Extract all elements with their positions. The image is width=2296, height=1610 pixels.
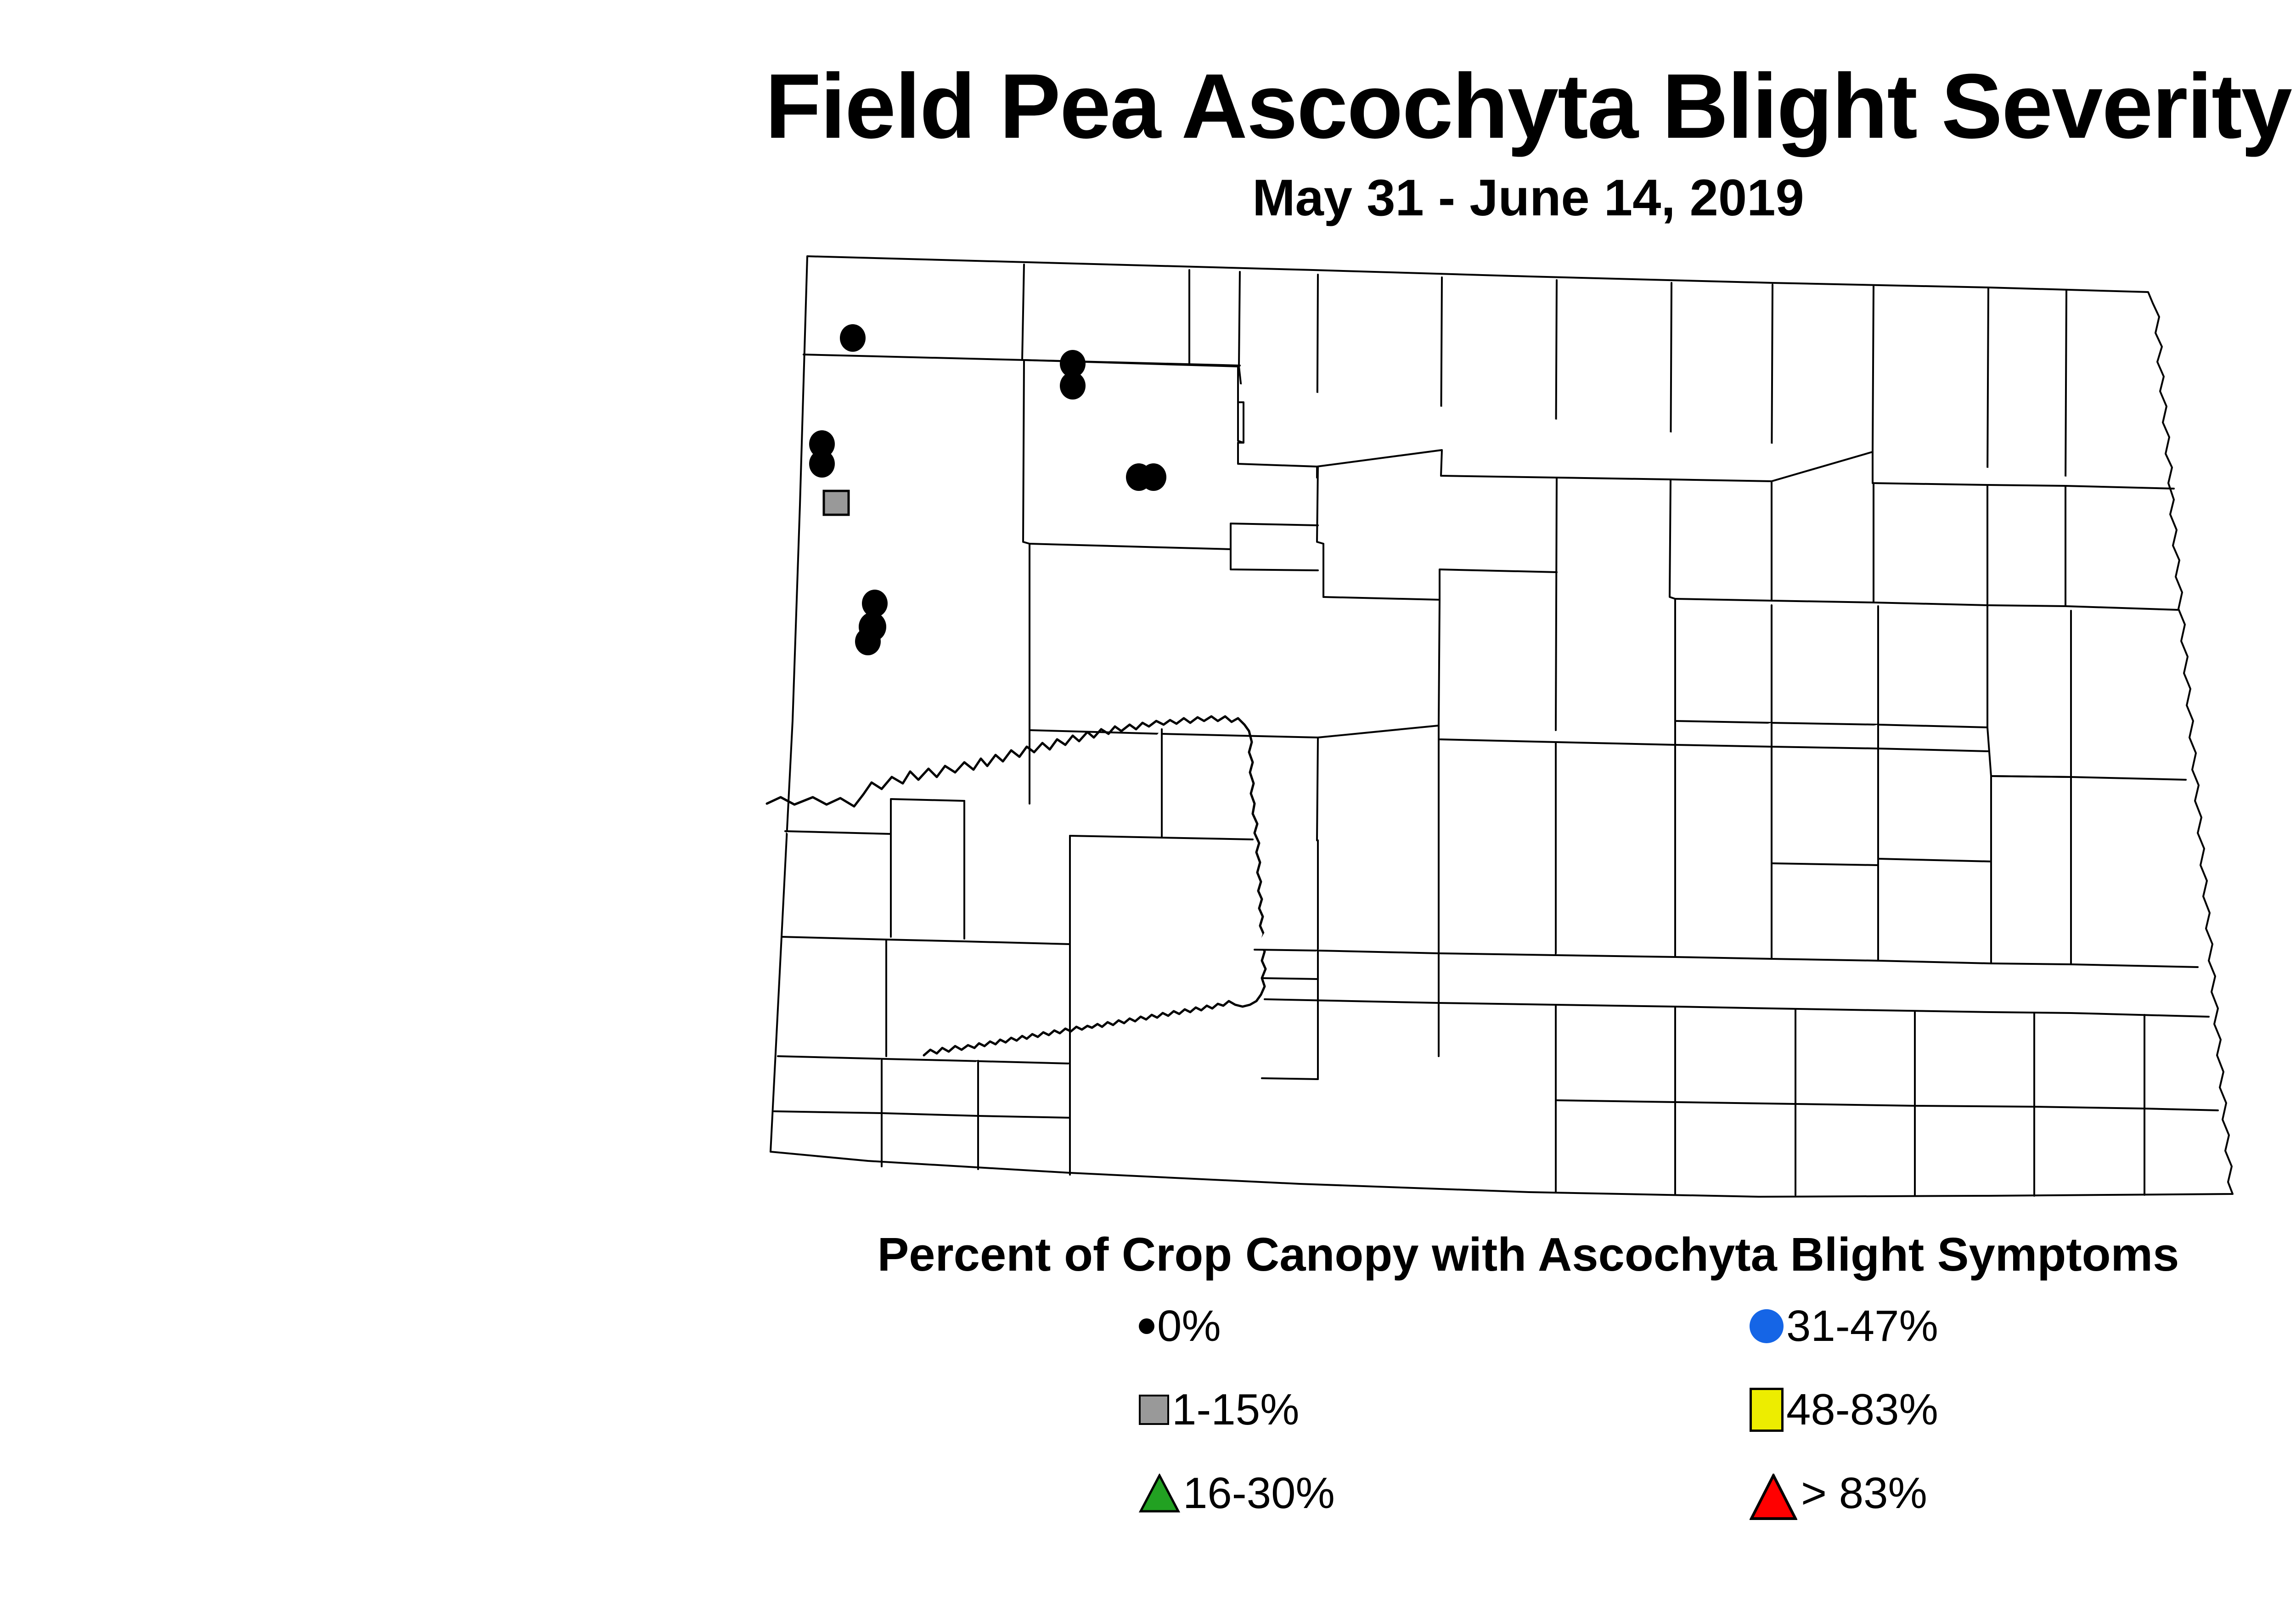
county-line (1873, 287, 1874, 452)
legend-label: 48-83% (1786, 1388, 1938, 1432)
legend-item-48-83pct: 48-83% (1750, 1388, 1938, 1432)
triangle-green-icon (1139, 1474, 1180, 1513)
legend-label: 1-15% (1172, 1388, 1300, 1432)
data-point-0pct (840, 324, 866, 352)
legend-item-0pct: 0% (1139, 1304, 1221, 1348)
legend-label: 16-30% (1183, 1471, 1335, 1515)
page-subtitle: May 31 - June 14, 2019 (0, 172, 2296, 224)
legend-item-31-47pct: 31-47% (1750, 1304, 1938, 1348)
data-point-1-15pct (824, 491, 849, 515)
triangle-red-icon (1750, 1474, 1791, 1513)
data-point-0pct (1141, 463, 1166, 491)
county-line (1987, 288, 1988, 482)
circle-small-icon (1139, 1318, 1154, 1334)
data-point-0pct (855, 628, 881, 655)
legend-label: 31-47% (1786, 1304, 1938, 1348)
legend-item-over-83pct: > 83% (1750, 1471, 1927, 1515)
data-point-0pct (1060, 372, 1086, 400)
county-line (1439, 600, 1440, 726)
map-figure: Field Pea Ascochyta Blight Severity May … (0, 0, 2296, 1610)
state-outline (771, 256, 2233, 1197)
data-point-0pct (809, 450, 835, 478)
county-line (2065, 290, 2066, 485)
county-line (1262, 1078, 1318, 1079)
legend-label: 0% (1157, 1304, 1221, 1348)
square-yellow-icon (1750, 1388, 1784, 1432)
county-line (1991, 776, 2071, 777)
square-icon (1139, 1395, 1169, 1425)
county-line (1317, 737, 1318, 840)
legend: 0% 1-15% 16-30% 31-47% 48-83% > 83% (1139, 1304, 2057, 1561)
page-title: Field Pea Ascochyta Blight Severity (0, 61, 2296, 152)
legend-label: > 83% (1801, 1471, 1927, 1515)
legend-item-1-15pct: 1-15% (1139, 1388, 1300, 1432)
legend-item-16-30pct: 16-30% (1139, 1471, 1335, 1515)
circle-blue-icon (1750, 1309, 1784, 1343)
legend-title: Percent of Crop Canopy with Ascochyta Bl… (0, 1231, 2296, 1278)
north-dakota-county-map (748, 248, 2296, 1208)
county-line (1556, 478, 1557, 730)
